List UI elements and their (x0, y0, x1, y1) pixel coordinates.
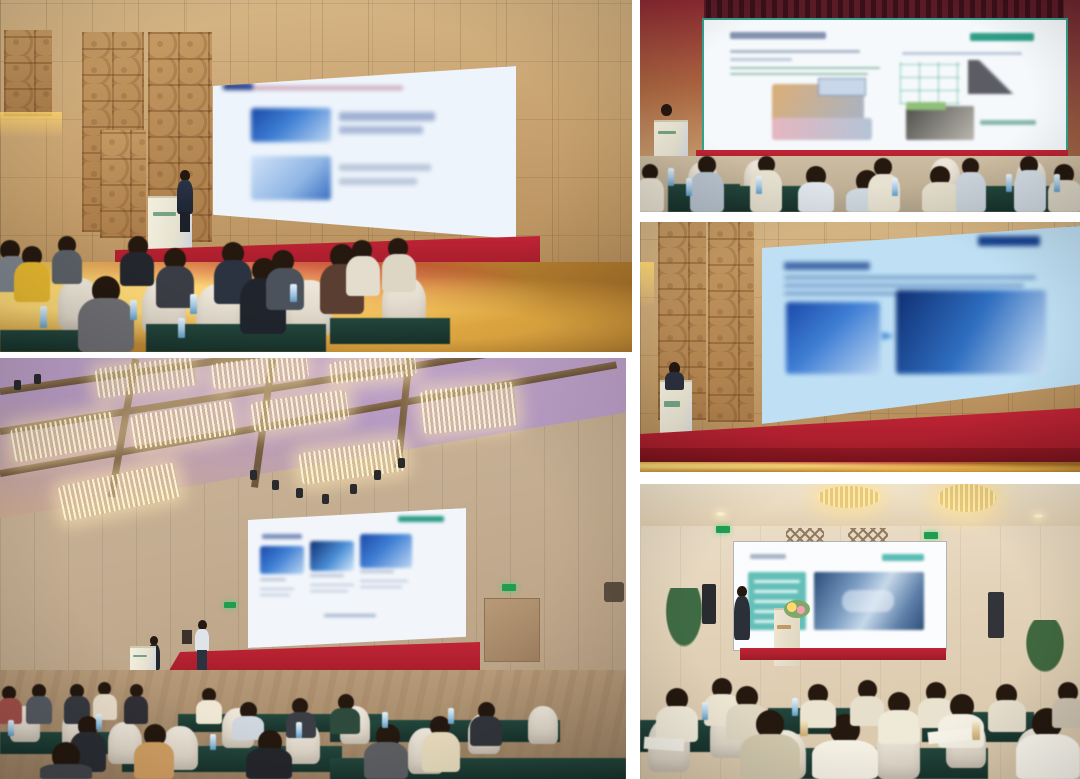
slide-text-block-2a (339, 164, 431, 171)
attendee-body (656, 706, 698, 742)
photo-bottom-right (640, 484, 1080, 779)
ring-chandelier (818, 486, 880, 508)
audience-table (330, 318, 450, 344)
podium-logo-mark (664, 401, 681, 407)
audience-group (0, 218, 632, 352)
attendee-body (40, 764, 92, 779)
slide-text-line (730, 58, 792, 61)
attendee-body (812, 740, 878, 779)
water-bottle (96, 714, 102, 730)
stage-spotlight (322, 494, 329, 504)
slide-text-line (730, 50, 860, 53)
speaker-head (661, 104, 672, 116)
slide-text-line-right (902, 52, 1022, 55)
slide-logo-tztek (398, 516, 444, 522)
audience-group (640, 624, 1080, 779)
slide-body-text (260, 594, 290, 596)
stage-spotlight (14, 380, 21, 390)
slide-body-text (360, 580, 408, 582)
slide-text-line (730, 67, 880, 69)
water-bottle (190, 294, 197, 314)
attendee-body (422, 732, 460, 772)
led-screen (248, 508, 466, 648)
water-bottle (800, 720, 808, 736)
slide-image-card-1 (251, 108, 331, 142)
slide-diagram-callout (818, 78, 866, 96)
slide-body-text (260, 588, 294, 590)
slide-logo-tztek (970, 33, 1034, 41)
attendee-body (956, 172, 986, 212)
ceiling-downlight (1034, 514, 1043, 518)
podium-logo-mark (153, 212, 176, 216)
attendee-body (364, 742, 408, 779)
water-bottle (686, 178, 692, 196)
flower-arrangement (784, 600, 810, 618)
presenter-body (177, 180, 193, 214)
slide-text-line (784, 276, 1036, 279)
slide-caption (360, 570, 394, 573)
stage-spotlight (374, 470, 381, 480)
attendee-body (878, 710, 920, 744)
attendee-body (26, 696, 52, 724)
slide-text-block-1a (339, 112, 435, 121)
audience-group (0, 658, 626, 779)
attendee-body (196, 700, 222, 724)
water-bottle (972, 722, 980, 740)
attendee-body (690, 172, 724, 212)
photo-top-left (0, 0, 632, 352)
attendee-body (1052, 698, 1080, 728)
line-array-speaker (702, 584, 716, 624)
attendee-body (740, 734, 800, 779)
photo-collage (0, 0, 1080, 779)
slide-logo-tztek (882, 554, 924, 561)
attendee-body (798, 182, 834, 212)
stage-spotlight (398, 458, 405, 468)
slide-caption-right (980, 120, 1036, 125)
water-bottle (1006, 174, 1012, 192)
carved-wood-door-center (708, 222, 754, 422)
water-bottle (892, 178, 898, 196)
slide-sidebar-item (754, 590, 798, 593)
attendee-body (120, 252, 154, 286)
attendee-body (156, 266, 194, 308)
speaker-body (665, 372, 684, 390)
water-bottle (210, 734, 216, 750)
water-bottle (756, 176, 762, 194)
slide-body-text (360, 586, 402, 588)
slide-content (248, 508, 466, 648)
slide-title (262, 534, 302, 539)
slide-image-card-2 (251, 156, 331, 200)
attendee-body (382, 254, 416, 292)
attendee-body (1016, 734, 1080, 779)
slide-caption (310, 574, 344, 577)
water-bottle (40, 306, 47, 328)
slide-flowchart (900, 62, 960, 104)
slide-body-text (310, 590, 348, 592)
water-bottle (448, 708, 454, 724)
slide-image-card-1 (260, 546, 304, 574)
attendee-body (14, 262, 50, 302)
attendee-body (330, 708, 360, 734)
stage-spotlight (250, 470, 257, 480)
stage-spotlight (34, 374, 41, 384)
podium-logo-mark (133, 655, 147, 657)
slide-text-block-1b (339, 126, 423, 134)
stage-spotlight (272, 480, 279, 490)
slide-image-card-3 (360, 534, 412, 568)
slide-body-text (310, 584, 354, 586)
water-bottle (668, 168, 674, 186)
attendee-body (266, 268, 304, 310)
floor-carpet (640, 462, 1080, 472)
water-bottle (702, 702, 708, 720)
chair (528, 706, 558, 744)
exit-sign (224, 602, 236, 608)
slide-image-card-2 (310, 541, 354, 571)
water-bottle (178, 318, 185, 338)
slide-text-line (784, 284, 1024, 287)
slide-title (784, 262, 870, 270)
slide-caption (260, 578, 286, 581)
wall-speaker (182, 630, 192, 644)
attendee-body (78, 298, 134, 352)
presenter-body (195, 629, 209, 651)
niche-uplight (640, 262, 654, 308)
ceiling-downlight (716, 512, 725, 516)
photo-bottom-left (0, 358, 626, 779)
stage-spotlight (296, 488, 303, 498)
slide-text-block-2b (339, 178, 417, 185)
water-bottle (130, 300, 137, 320)
exit-sign (716, 526, 730, 533)
slide-sidebar-item (754, 580, 800, 583)
attendee-body (52, 250, 82, 284)
wall-lattice-niche (4, 30, 52, 116)
attendee-body (246, 748, 292, 779)
led-screen (213, 66, 516, 239)
wall-speaker (604, 582, 624, 602)
slide-content (213, 66, 516, 239)
ring-chandelier (938, 484, 996, 512)
slide-title (730, 32, 826, 39)
side-door (484, 598, 540, 662)
water-bottle (382, 712, 388, 728)
slide-image-card-1 (786, 302, 880, 374)
slide-handshake-highlight (842, 590, 894, 612)
attendee-body (922, 182, 960, 212)
attendee-body (134, 742, 174, 779)
attendee-body (346, 256, 380, 296)
slide-green-tag (906, 102, 946, 110)
attendee-body (124, 696, 148, 724)
audience-group (640, 128, 1080, 212)
photo-middle-right (640, 222, 1080, 472)
attendee-body (1014, 170, 1046, 212)
slide-arrow-icon (882, 332, 894, 340)
attendee-body (640, 178, 664, 212)
attendee-body (988, 700, 1026, 732)
attendee-body (750, 170, 782, 212)
attendee-body (470, 716, 502, 746)
water-bottle (296, 722, 302, 738)
attendee-body (1048, 180, 1080, 212)
water-bottle (8, 720, 14, 736)
slide-image-card-2 (896, 290, 1046, 374)
slide-text-line (730, 73, 868, 75)
slide-title (750, 554, 786, 559)
water-bottle (290, 284, 297, 302)
water-bottle (1054, 174, 1060, 192)
slide-logo-tztek (978, 236, 1040, 246)
audience-table (146, 324, 326, 352)
slide-footer-text (324, 614, 376, 617)
water-bottle (792, 698, 798, 716)
niche-uplight (0, 112, 62, 138)
stage-spotlight (350, 484, 357, 494)
exit-sign (924, 532, 938, 539)
exit-sign (502, 584, 516, 591)
photo-top-right (640, 0, 1080, 212)
slide-chart-right (968, 60, 1024, 94)
